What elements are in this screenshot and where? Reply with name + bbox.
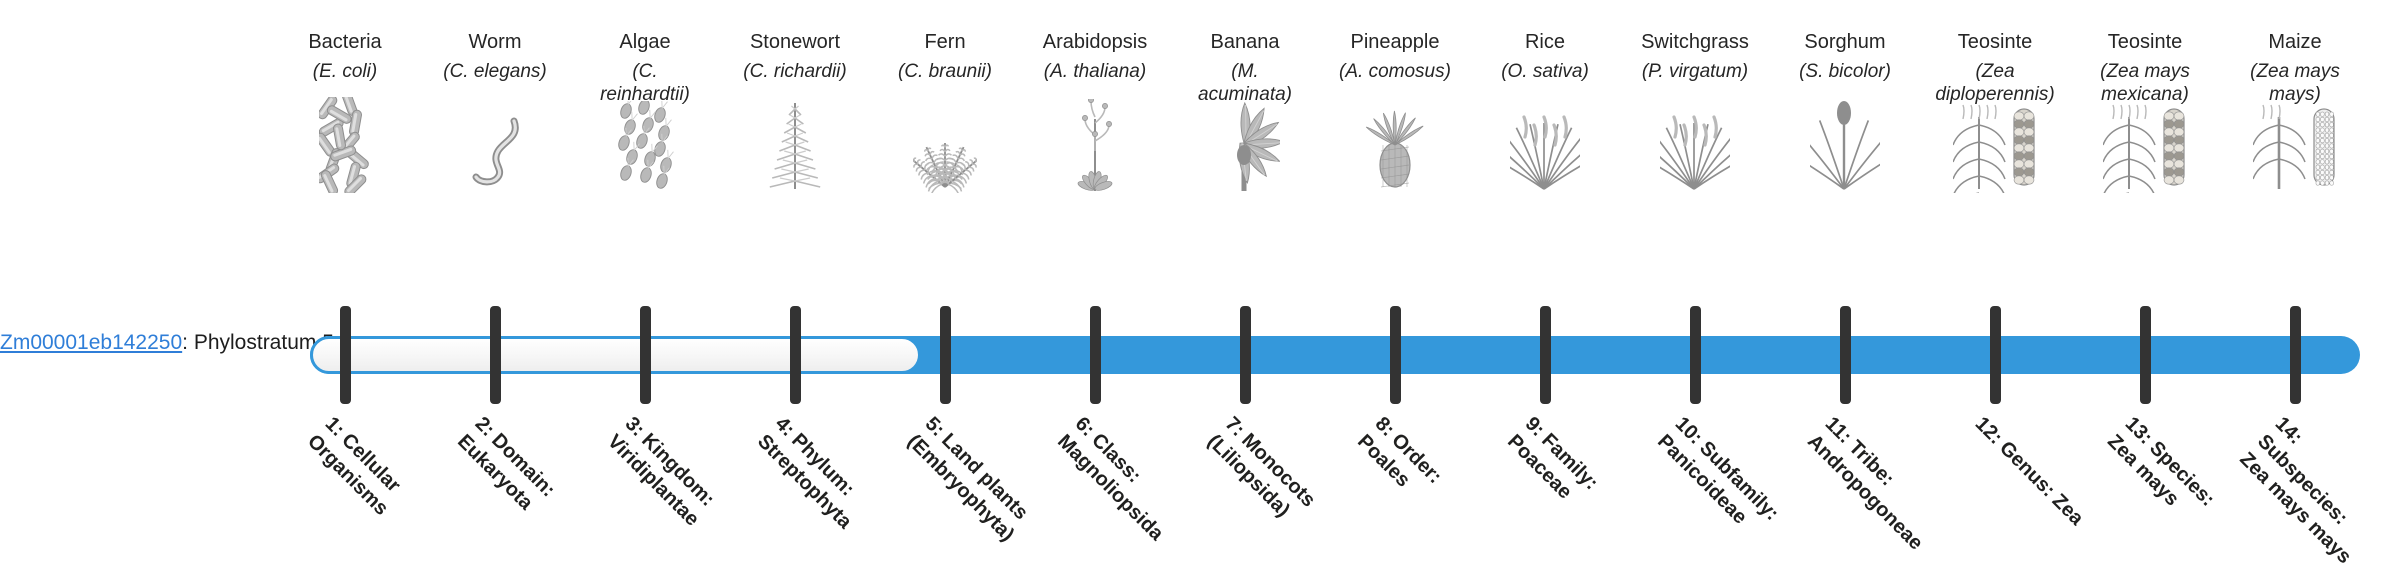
species-scientific-name: (E. coli): [285, 60, 405, 83]
phylostratum-tick-2[interactable]: [490, 306, 501, 404]
phylostratum-bar[interactable]: [310, 336, 2360, 374]
arabidopsis-icon: [1035, 108, 1155, 193]
phylostratum-tick-11[interactable]: [1840, 306, 1851, 404]
rank-label-11: 11: Tribe: Andropogoneae: [1802, 412, 1943, 553]
species-scientific-name: (A. thaliana): [1035, 60, 1155, 83]
phylostratum-tick-8[interactable]: [1390, 306, 1401, 404]
phylostratum-tick-1[interactable]: [340, 306, 351, 404]
sorghum-icon: [1785, 108, 1905, 193]
rank-label-5: 5: Land plants (Embryophyta): [902, 412, 1043, 553]
species-scientific-name: (O. sativa): [1485, 60, 1605, 83]
rank-label-8: 8: Order: Poales: [1352, 412, 1493, 553]
phylostratum-tick-10[interactable]: [1690, 306, 1701, 404]
rank-label-3: 3: Kingdom: Viridiplantae: [602, 412, 743, 553]
species-common-name: Stonewort: [735, 30, 855, 54]
species-common-name: Worm: [435, 30, 555, 54]
phylostratum-tick-4[interactable]: [790, 306, 801, 404]
species-column-fern: Fern(C. braunii): [885, 30, 1005, 83]
species-common-name: Fern: [885, 30, 1005, 54]
species-column-banana: Banana(M. acuminata): [1185, 30, 1305, 106]
algae-icon: [585, 108, 705, 193]
species-scientific-name: (P. virgatum): [1635, 60, 1755, 83]
species-scientific-name: (A. comosus): [1335, 60, 1455, 83]
gene-id-link[interactable]: Zm00001eb142250: [0, 331, 182, 354]
rank-label-14: 14: Subspecies: Zea mays mays: [2234, 412, 2393, 571]
phylostratum-tick-6[interactable]: [1090, 306, 1101, 404]
rank-label-10: 10: Subfamily: Panicoideae: [1652, 412, 1793, 553]
species-column-pineapple: Pineapple(A. comosus): [1335, 30, 1455, 83]
species-column-maize: Maize(Zea mays mays): [2235, 30, 2355, 106]
worm-icon: [435, 108, 555, 193]
rank-label-13: 13: Species: Zea mays: [2102, 412, 2243, 553]
species-column-algae: Algae(C. reinhardtii): [585, 30, 705, 106]
phylostratum-tick-5[interactable]: [940, 306, 951, 404]
teosinte-icon: [2085, 108, 2205, 193]
maize-icon: [2235, 108, 2355, 193]
species-common-name: Pineapple: [1335, 30, 1455, 54]
phylostratum-tick-12[interactable]: [1990, 306, 2001, 404]
bar-empty-track: [310, 336, 921, 374]
species-scientific-name: (C. elegans): [435, 60, 555, 83]
species-common-name: Sorghum: [1785, 30, 1905, 54]
species-common-name: Banana: [1185, 30, 1305, 54]
species-common-name: Arabidopsis: [1035, 30, 1155, 54]
rank-label-9: 9: Family: Poaceae: [1502, 412, 1643, 553]
stonewort-icon: [735, 108, 855, 193]
banana-icon: [1185, 108, 1305, 193]
phylostratum-tick-13[interactable]: [2140, 306, 2151, 404]
species-column-teosinte: Teosinte(Zea mays mexicana): [2085, 30, 2205, 106]
species-common-name: Switchgrass: [1635, 30, 1755, 54]
phylostratigraphy-timeline: Zm00001eb142250: Phylostratum 5 Bacteria…: [0, 0, 2400, 580]
bacteria-icon: [285, 108, 405, 193]
species-column-worm: Worm(C. elegans): [435, 30, 555, 83]
rank-label-2: 2: Domain: Eukaryota: [452, 412, 593, 553]
switchgrass-icon: [1635, 108, 1755, 193]
species-column-bacteria: Bacteria(E. coli): [285, 30, 405, 83]
rank-label-12: 12: Genus: Zea: [1969, 412, 2093, 536]
phylostratum-tick-7[interactable]: [1240, 306, 1251, 404]
gene-label: Zm00001eb142250: Phylostratum 5: [0, 330, 290, 356]
species-column-arabidopsis: Arabidopsis(A. thaliana): [1035, 30, 1155, 83]
species-common-name: Teosinte: [2085, 30, 2205, 54]
rank-label-4: 4: Phylum: Streptophyta: [752, 412, 893, 553]
rice-icon: [1485, 108, 1605, 193]
species-column-sorghum: Sorghum(S. bicolor): [1785, 30, 1905, 83]
phylostratum-tick-14[interactable]: [2290, 306, 2301, 404]
species-scientific-name: (C. reinhardtii): [585, 60, 705, 106]
rank-label-6: 6: Class: Magnoliopsida: [1052, 412, 1193, 553]
species-common-name: Teosinte: [1935, 30, 2055, 54]
fern-icon: [885, 108, 1005, 193]
species-column-switchgrass: Switchgrass(P. virgatum): [1635, 30, 1755, 83]
teosinte-icon: [1935, 108, 2055, 193]
species-scientific-name: (S. bicolor): [1785, 60, 1905, 83]
pineapple-icon: [1335, 108, 1455, 193]
species-common-name: Maize: [2235, 30, 2355, 54]
species-scientific-name: (C. richardii): [735, 60, 855, 83]
species-common-name: Bacteria: [285, 30, 405, 54]
phylostratum-tick-3[interactable]: [640, 306, 651, 404]
phylostratum-tick-9[interactable]: [1540, 306, 1551, 404]
species-column-rice: Rice(O. sativa): [1485, 30, 1605, 83]
species-common-name: Algae: [585, 30, 705, 54]
rank-label-1: 1: Cellular Organisms: [302, 412, 443, 553]
species-common-name: Rice: [1485, 30, 1605, 54]
species-column-teosinte: Teosinte(Zea diploperennis): [1935, 30, 2055, 106]
species-column-stonewort: Stonewort(C. richardii): [735, 30, 855, 83]
rank-label-7: 7: Monocots (Liliopsida): [1202, 412, 1343, 553]
species-scientific-name: (C. braunii): [885, 60, 1005, 83]
